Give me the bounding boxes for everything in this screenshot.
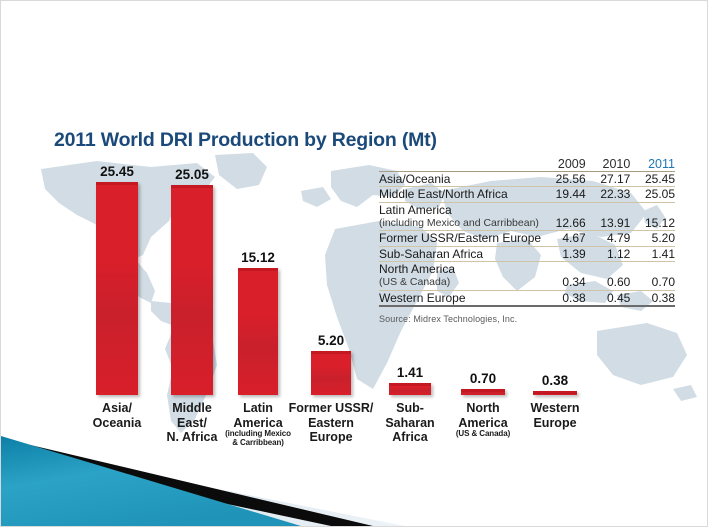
table-cell-v2010: 0.45	[586, 290, 631, 305]
bar-label-line: Sub-	[385, 401, 434, 416]
bar-rect[interactable]	[533, 391, 577, 395]
header-year-2010: 2010	[586, 157, 631, 172]
table-bottom-rule	[379, 305, 675, 307]
bar-value-label: 25.45	[100, 164, 134, 179]
table-cell-v2011: 25.45	[630, 172, 675, 187]
table-cell-v2011: 5.20	[630, 231, 675, 246]
bar-group: 25.05MiddleEast/N. Africa	[171, 184, 213, 395]
bar-rect[interactable]	[389, 383, 431, 395]
bar-label-line: Middle	[167, 401, 218, 416]
table-row: Asia/Oceania25.5627.1725.45	[379, 172, 675, 187]
table-cell-region: Former USSR/Eastern Europe	[379, 231, 541, 246]
table-row: Middle East/North Africa19.4422.3325.05	[379, 187, 675, 202]
corner-decoration	[1, 416, 708, 526]
table-cell-v2011: 1.41	[630, 246, 675, 261]
slide-canvas: 2011 World DRI Production by Region (Mt)…	[0, 0, 708, 527]
table-cell-v2010: 27.17	[586, 172, 631, 187]
table-cell-v2010: 4.79	[586, 231, 631, 246]
bar-value-label: 1.41	[397, 365, 423, 380]
bar-group: 5.20Former USSR/EasternEurope	[311, 350, 351, 395]
bar-label-line: Former USSR/	[289, 401, 374, 416]
table-cell-v2009: 0.38	[541, 290, 586, 305]
table-cell-region: Asia/Oceania	[379, 172, 541, 187]
bar-label-line: North	[456, 401, 510, 416]
bar-cap	[389, 383, 431, 386]
region-name: Latin America	[379, 203, 452, 217]
bar-value-label: 0.38	[542, 373, 568, 388]
table-cell-region: Latin America(including Mexico and Carri…	[379, 202, 541, 231]
table-cell-v2011: 0.38	[630, 290, 675, 305]
bar-label-line: Western	[530, 401, 579, 416]
bar-value-label: 0.70	[470, 371, 496, 386]
table-header-row: 2009 2010 2011	[379, 157, 675, 172]
bar-value-label: 5.20	[318, 333, 344, 348]
bar-rect[interactable]	[311, 351, 351, 395]
table-cell-v2010: 22.33	[586, 187, 631, 202]
region-name: Middle East/North Africa	[379, 187, 508, 201]
bar-value-label: 15.12	[241, 250, 275, 265]
table-cell-v2010: 1.12	[586, 246, 631, 261]
table-cell-v2009: 19.44	[541, 187, 586, 202]
data-table-panel: 2009 2010 2011 Asia/Oceania25.5627.1725.…	[379, 157, 675, 324]
table-header: 2009 2010 2011	[379, 157, 675, 172]
header-year-2011: 2011	[630, 157, 675, 172]
table-cell-v2009: 12.66	[541, 202, 586, 231]
region-name: Asia/Oceania	[379, 172, 450, 186]
region-name: Former USSR/Eastern Europe	[379, 231, 541, 245]
bar-rect[interactable]	[461, 389, 505, 395]
bar-rect[interactable]	[238, 268, 278, 395]
bar-value-label: 25.05	[175, 167, 209, 182]
bar-cap	[171, 185, 213, 188]
bar-cap	[461, 389, 505, 392]
bar-cap	[96, 182, 138, 185]
header-year-2009: 2009	[541, 157, 586, 172]
region-name: Sub-Saharan Africa	[379, 247, 483, 261]
bar-group: 25.45Asia/Oceania	[96, 181, 138, 395]
table-cell-v2009: 4.67	[541, 231, 586, 246]
table-cell-v2010: 13.91	[586, 202, 631, 231]
bar-rect[interactable]	[96, 182, 138, 395]
production-table: 2009 2010 2011 Asia/Oceania25.5627.1725.…	[379, 157, 675, 305]
table-cell-v2011: 15.12	[630, 202, 675, 231]
table-cell-v2011: 25.05	[630, 187, 675, 202]
source-note: Source: Midrex Technologies, Inc.	[379, 314, 675, 324]
bar-cap	[311, 351, 351, 354]
table-cell-v2011: 0.70	[630, 262, 675, 291]
bar-cap	[238, 268, 278, 271]
region-name: Western Europe	[379, 291, 466, 305]
table-row: Former USSR/Eastern Europe4.674.795.20	[379, 231, 675, 246]
bar-group: 1.41Sub-SaharanAfrica	[389, 382, 431, 395]
region-subnote: (US & Canada)	[379, 276, 541, 289]
table-cell-v2010: 0.60	[586, 262, 631, 291]
table-cell-region: Western Europe	[379, 290, 541, 305]
table-cell-region: Sub-Saharan Africa	[379, 246, 541, 261]
region-subnote: (including Mexico and Carribbean)	[379, 217, 541, 230]
table-cell-v2009: 0.34	[541, 262, 586, 291]
bar-group: 0.38WesternEurope	[533, 390, 577, 395]
table-row: Latin America(including Mexico and Carri…	[379, 202, 675, 231]
bar-label-line: Asia/	[93, 401, 142, 416]
table-row: Sub-Saharan Africa1.391.121.41	[379, 246, 675, 261]
header-region-blank	[379, 157, 541, 172]
table-cell-region: Middle East/North Africa	[379, 187, 541, 202]
table-cell-region: North America(US & Canada)	[379, 262, 541, 291]
bar-label-line: Latin	[225, 401, 291, 416]
table-cell-v2009: 25.56	[541, 172, 586, 187]
table-row: North America(US & Canada)0.340.600.70	[379, 262, 675, 291]
table-cell-v2009: 1.39	[541, 246, 586, 261]
bar-rect[interactable]	[171, 185, 213, 395]
bar-group: 15.12LatinAmerica(including Mexico& Carr…	[238, 267, 278, 395]
region-name: North America	[379, 262, 455, 276]
table-row: Western Europe0.380.450.38	[379, 290, 675, 305]
table-body: Asia/Oceania25.5627.1725.45Middle East/N…	[379, 172, 675, 305]
bar-group: 0.70NorthAmerica(US & Canada)	[461, 388, 505, 395]
bar-cap	[533, 391, 577, 394]
